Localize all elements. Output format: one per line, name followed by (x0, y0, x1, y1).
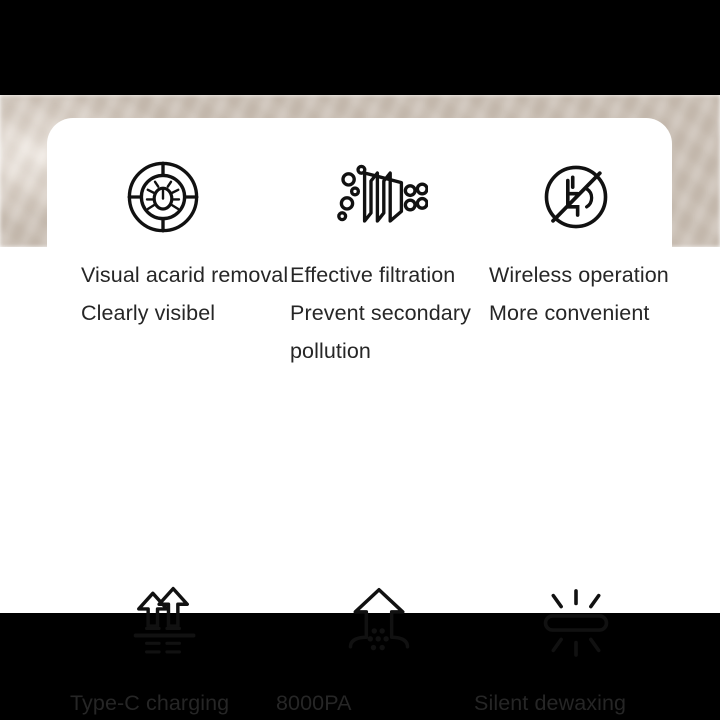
feature-line: More convenient (489, 294, 672, 332)
feature-labels: Wireless operation More convenient (489, 256, 672, 332)
filter-particles-icon (279, 154, 479, 240)
letterbox-top (0, 0, 720, 95)
feature-labels: Visual acarid removal Clearly visibel (81, 256, 279, 332)
mite-target-icon (47, 154, 279, 240)
product-feature-banner: Visual acarid removal Clearly visibel (0, 0, 720, 720)
feature-item: Visual acarid removal Clearly visibel (47, 118, 279, 340)
feature-line: Prevent secondary (290, 294, 479, 332)
feature-line: Wireless operation (489, 256, 672, 294)
feature-labels: 8000PA Strong suction (276, 684, 479, 720)
feature-item: Silent dewaxing Mother and baby only (479, 340, 672, 562)
feature-item: Effective filtration Prevent secondary p… (279, 118, 479, 340)
feature-grid: Visual acarid removal Clearly visibel (47, 118, 672, 613)
feature-line: Clearly visibel (81, 294, 279, 332)
suction-arrow-dust-icon (279, 580, 479, 666)
feature-item: 8000PA Strong suction (279, 340, 479, 562)
feature-line: Effective filtration (290, 256, 479, 294)
feature-line: Visual acarid removal (81, 256, 279, 294)
no-plug-wireless-icon (479, 154, 672, 240)
feature-line: 8000PA (276, 684, 479, 720)
feature-line: Silent dewaxing (474, 684, 672, 720)
feature-item: Type-C charging Universal convenient (47, 340, 279, 562)
double-arrow-beat-icon (47, 580, 279, 666)
feature-labels: Silent dewaxing Mother and baby only (474, 684, 672, 720)
uv-lamp-rays-icon (479, 580, 672, 666)
feature-labels: Type-C charging Universal convenient (70, 684, 279, 720)
feature-item: Wireless operation More convenient (479, 118, 672, 340)
feature-line: Type-C charging (70, 684, 279, 720)
